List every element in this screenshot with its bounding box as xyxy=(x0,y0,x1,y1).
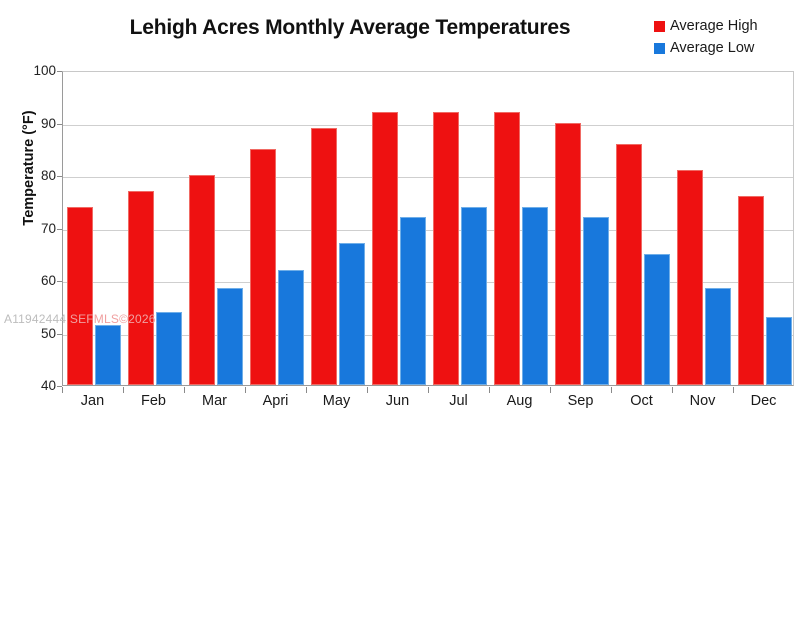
y-tick-label: 90 xyxy=(16,117,56,131)
bar-may-low xyxy=(339,243,365,385)
x-axis-tick-mark xyxy=(428,387,429,393)
x-label-dec: Dec xyxy=(729,394,799,409)
gridline xyxy=(63,125,793,126)
bar-apri-low xyxy=(278,270,304,386)
x-label-nov: Nov xyxy=(668,394,738,409)
plot-area xyxy=(62,71,794,386)
bar-apri-high xyxy=(250,149,276,385)
x-axis-tick-mark xyxy=(672,387,673,393)
y-tick-label: 40 xyxy=(16,379,56,393)
y-tick-label: 70 xyxy=(16,222,56,236)
x-axis-tick-mark xyxy=(184,387,185,393)
x-axis-tick-mark xyxy=(367,387,368,393)
x-axis-tick-mark xyxy=(489,387,490,393)
bar-jul-high xyxy=(433,112,459,385)
y-tick-label: 100 xyxy=(16,64,56,78)
x-label-sep: Sep xyxy=(546,394,616,409)
legend-swatch-average-low xyxy=(654,43,665,54)
bar-dec-high xyxy=(738,196,764,385)
x-label-aug: Aug xyxy=(485,394,555,409)
x-label-jul: Jul xyxy=(424,394,494,409)
bar-nov-high xyxy=(677,170,703,385)
x-label-mar: Mar xyxy=(180,394,250,409)
x-axis-tick-mark xyxy=(245,387,246,393)
bar-jan-low xyxy=(95,325,121,385)
x-axis-tick-mark xyxy=(306,387,307,393)
watermark-listing-id: A11942444 xyxy=(4,312,66,326)
legend-label-average-high: Average High xyxy=(670,19,758,34)
bar-oct-high xyxy=(616,144,642,386)
x-label-apri: Apri xyxy=(241,394,311,409)
x-label-may: May xyxy=(302,394,372,409)
bar-mar-low xyxy=(217,288,243,385)
y-tick-label: 60 xyxy=(16,274,56,288)
x-label-feb: Feb xyxy=(119,394,189,409)
bar-mar-high xyxy=(189,175,215,385)
chart-legend: Average High Average Low xyxy=(654,16,782,60)
x-axis-tick-mark xyxy=(611,387,612,393)
bar-sep-high xyxy=(555,123,581,386)
bar-feb-high xyxy=(128,191,154,385)
bar-feb-low xyxy=(156,312,182,386)
bar-oct-low xyxy=(644,254,670,385)
x-label-oct: Oct xyxy=(607,394,677,409)
bar-jun-high xyxy=(372,112,398,385)
y-tick-label: 50 xyxy=(16,327,56,341)
x-label-jan: Jan xyxy=(58,394,128,409)
bar-chart: Lehigh Acres Monthly Average Temperature… xyxy=(0,0,800,637)
x-axis-tick-mark xyxy=(123,387,124,393)
bar-aug-high xyxy=(494,112,520,385)
x-axis-tick-mark xyxy=(550,387,551,393)
bar-may-high xyxy=(311,128,337,385)
bar-dec-low xyxy=(766,317,792,385)
x-axis-tick-mark xyxy=(733,387,734,393)
legend-label-average-low: Average Low xyxy=(670,41,754,56)
bar-aug-low xyxy=(522,207,548,386)
x-axis-tick-mark xyxy=(62,387,63,393)
bar-jul-low xyxy=(461,207,487,386)
legend-swatch-average-high xyxy=(654,21,665,32)
legend-item-average-low: Average Low xyxy=(654,38,782,58)
legend-item-average-high: Average High xyxy=(654,16,782,36)
bar-jan-high xyxy=(67,207,93,386)
bar-sep-low xyxy=(583,217,609,385)
x-label-jun: Jun xyxy=(363,394,433,409)
bar-nov-low xyxy=(705,288,731,385)
bar-jun-low xyxy=(400,217,426,385)
chart-title: Lehigh Acres Monthly Average Temperature… xyxy=(60,16,640,40)
y-tick-label: 80 xyxy=(16,169,56,183)
